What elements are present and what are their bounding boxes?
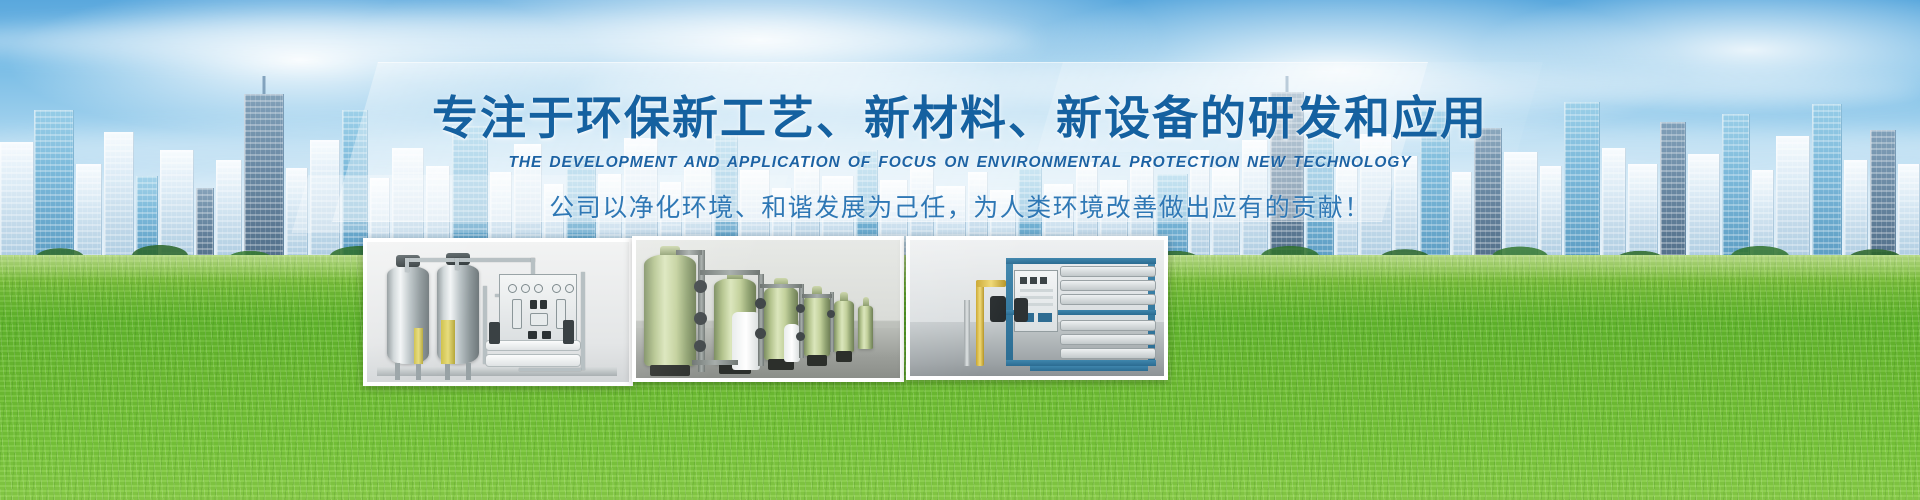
product-photo-3[interactable] <box>906 236 1168 380</box>
product-photo-2[interactable] <box>632 236 904 382</box>
photo-3-image <box>910 240 1164 376</box>
photo-2-image <box>636 240 900 378</box>
product-photo-strip <box>0 0 1920 500</box>
product-photo-1[interactable] <box>363 238 633 386</box>
photo-1-image <box>367 242 629 382</box>
hero-banner: 专注于环保新工艺、新材料、新设备的研发和应用 THE DEVELOPMENT A… <box>0 0 1920 500</box>
